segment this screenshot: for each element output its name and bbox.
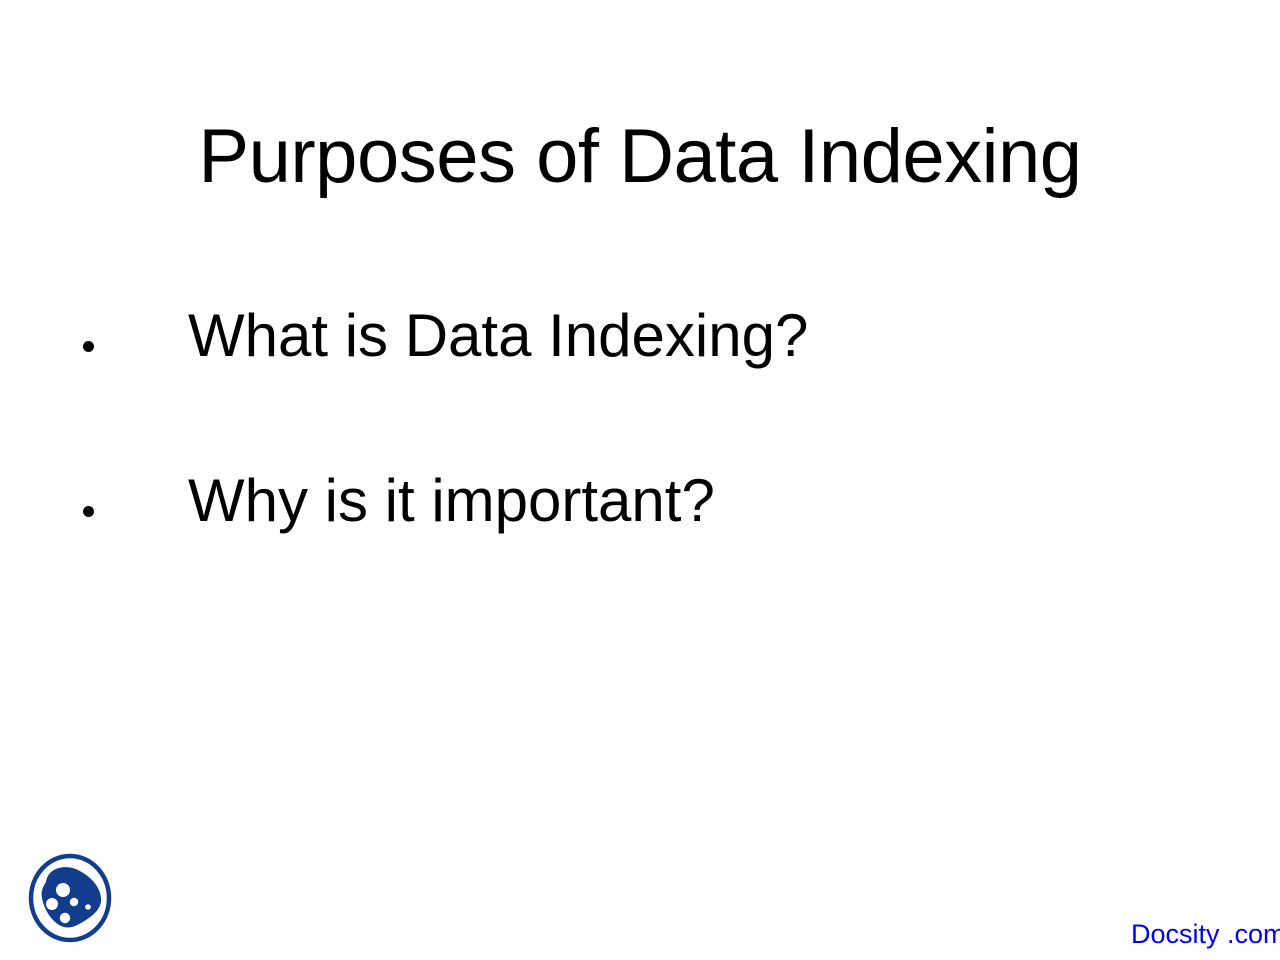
docsity-logo-icon — [28, 852, 114, 944]
bullet-dot-icon — [83, 341, 94, 352]
bullet-item-label: What is Data Indexing? — [188, 306, 808, 366]
list-item: Why is it important? — [0, 471, 1280, 636]
page-title: Purposes of Data Indexing — [0, 119, 1280, 195]
bullet-item-label: Why is it important? — [188, 471, 715, 531]
bullet-dot-icon — [83, 506, 94, 517]
list-item: What is Data Indexing? — [0, 306, 1280, 471]
docsity-wordmark: Docsity .com — [1131, 921, 1280, 948]
presentation-slide: Purposes of Data Indexing What is Data I… — [0, 0, 1280, 960]
bullet-list: What is Data Indexing? Why is it importa… — [0, 306, 1280, 636]
